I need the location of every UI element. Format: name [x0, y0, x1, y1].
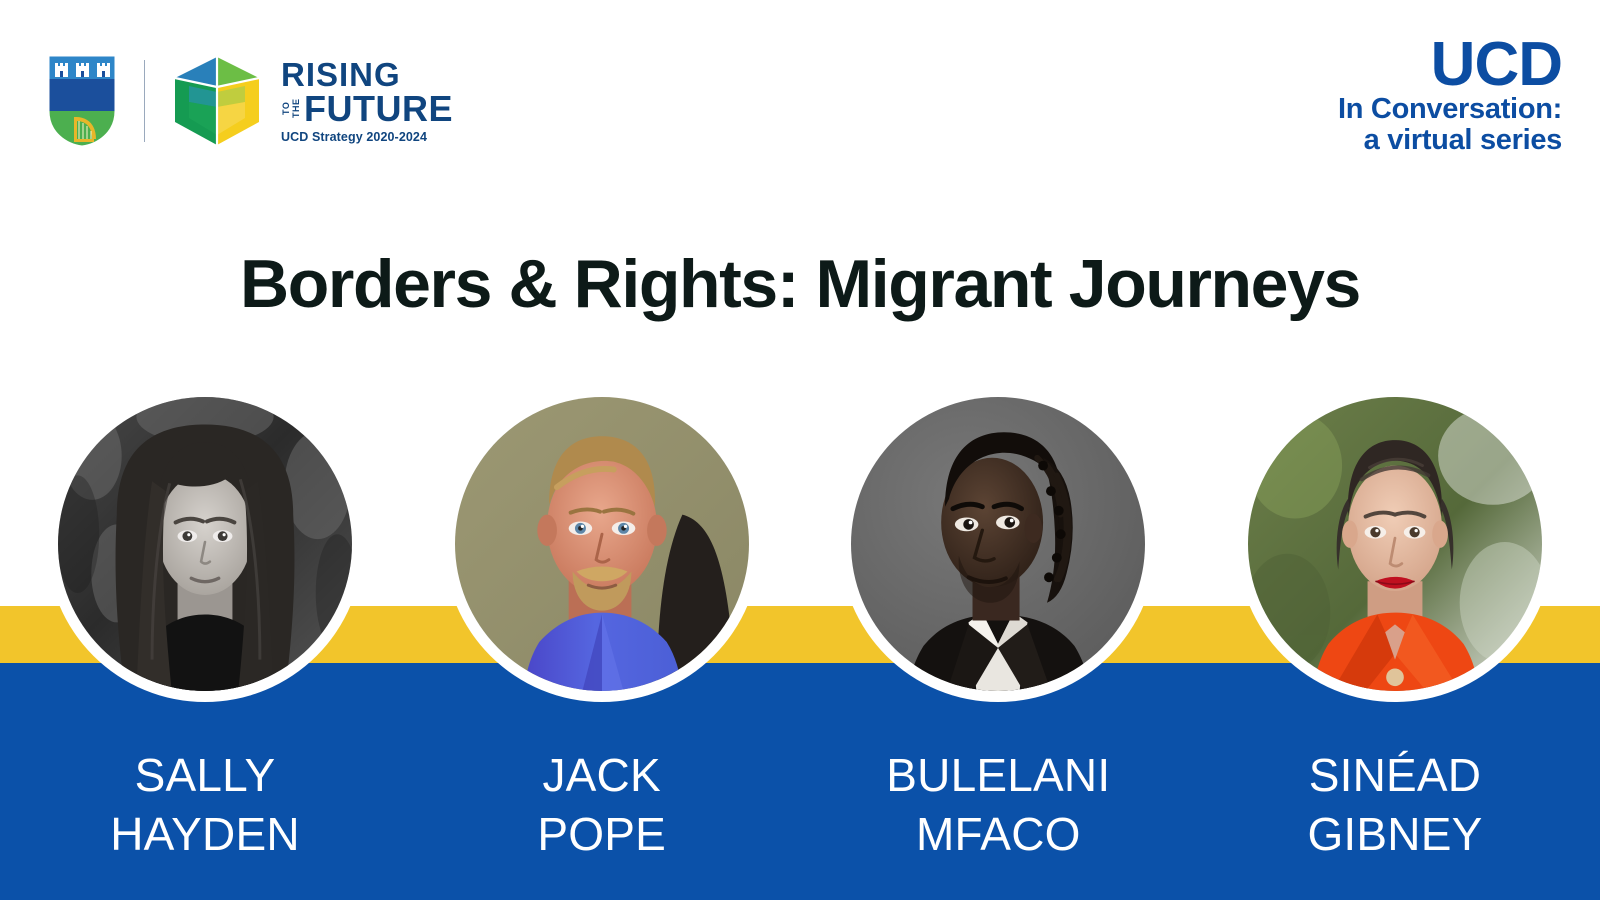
speaker-first-name: SINÉAD	[1307, 746, 1482, 805]
avatar-ring	[840, 386, 1156, 702]
speaker-name-sally-hayden: SALLY HAYDEN	[110, 746, 300, 864]
rising-to-the-future-cube-icon	[169, 55, 265, 147]
portrait-sinead-gibney	[1248, 397, 1542, 691]
logo-lockup: RISING TO THE FUTURE UCD Strategy 2020-2…	[46, 46, 453, 156]
speaker-last-name: HAYDEN	[110, 805, 300, 864]
speaker-name-jack-pope: JACK POPE	[537, 746, 666, 864]
speaker-last-name: MFACO	[886, 805, 1110, 864]
rtf-to-the-text: TO THE	[281, 91, 301, 125]
portrait-sally-hayden	[58, 397, 352, 691]
avatar-ring	[444, 386, 760, 702]
logo-divider	[144, 60, 145, 142]
avatar-ring	[1237, 386, 1553, 702]
speaker-list: SALLY HAYDEN	[0, 386, 1600, 886]
speaker-card-sinead-gibney: SINÉAD GIBNEY	[1230, 386, 1560, 886]
series-branding: UCD In Conversation: a virtual series	[1338, 36, 1562, 156]
ucd-dublin-crest-icon	[46, 53, 118, 149]
avatar-ring	[47, 386, 363, 702]
rtf-rising-text: RISING	[281, 58, 453, 91]
avatar-jack-pope	[455, 397, 749, 691]
rtf-strategy-text: UCD Strategy 2020-2024	[281, 131, 453, 144]
rising-to-the-future-wordmark: RISING TO THE FUTURE UCD Strategy 2020-2…	[281, 58, 453, 144]
speaker-card-sally-hayden: SALLY HAYDEN	[40, 386, 370, 886]
speaker-last-name: GIBNEY	[1307, 805, 1482, 864]
event-title: Borders & Rights: Migrant Journeys	[0, 246, 1600, 322]
speaker-first-name: BULELANI	[886, 746, 1110, 805]
rtf-future-text: FUTURE	[304, 92, 453, 126]
series-subtitle-line2: a virtual series	[1338, 125, 1562, 156]
series-ucd-text: UCD	[1338, 36, 1562, 94]
portrait-jack-pope	[455, 397, 749, 691]
speaker-last-name: POPE	[537, 805, 666, 864]
series-subtitle-line1: In Conversation:	[1338, 94, 1562, 125]
speaker-first-name: JACK	[537, 746, 666, 805]
speaker-name-sinead-gibney: SINÉAD GIBNEY	[1307, 746, 1482, 864]
portrait-bulelani-mfaco	[851, 397, 1145, 691]
avatar-sally-hayden	[58, 397, 352, 691]
event-promo-poster: RISING TO THE FUTURE UCD Strategy 2020-2…	[0, 0, 1600, 900]
speaker-name-bulelani-mfaco: BULELANI MFACO	[886, 746, 1110, 864]
speaker-first-name: SALLY	[110, 746, 300, 805]
speaker-card-bulelani-mfaco: BULELANI MFACO	[833, 386, 1163, 886]
avatar-sinead-gibney	[1248, 397, 1542, 691]
avatar-bulelani-mfaco	[851, 397, 1145, 691]
speaker-card-jack-pope: JACK POPE	[437, 386, 767, 886]
